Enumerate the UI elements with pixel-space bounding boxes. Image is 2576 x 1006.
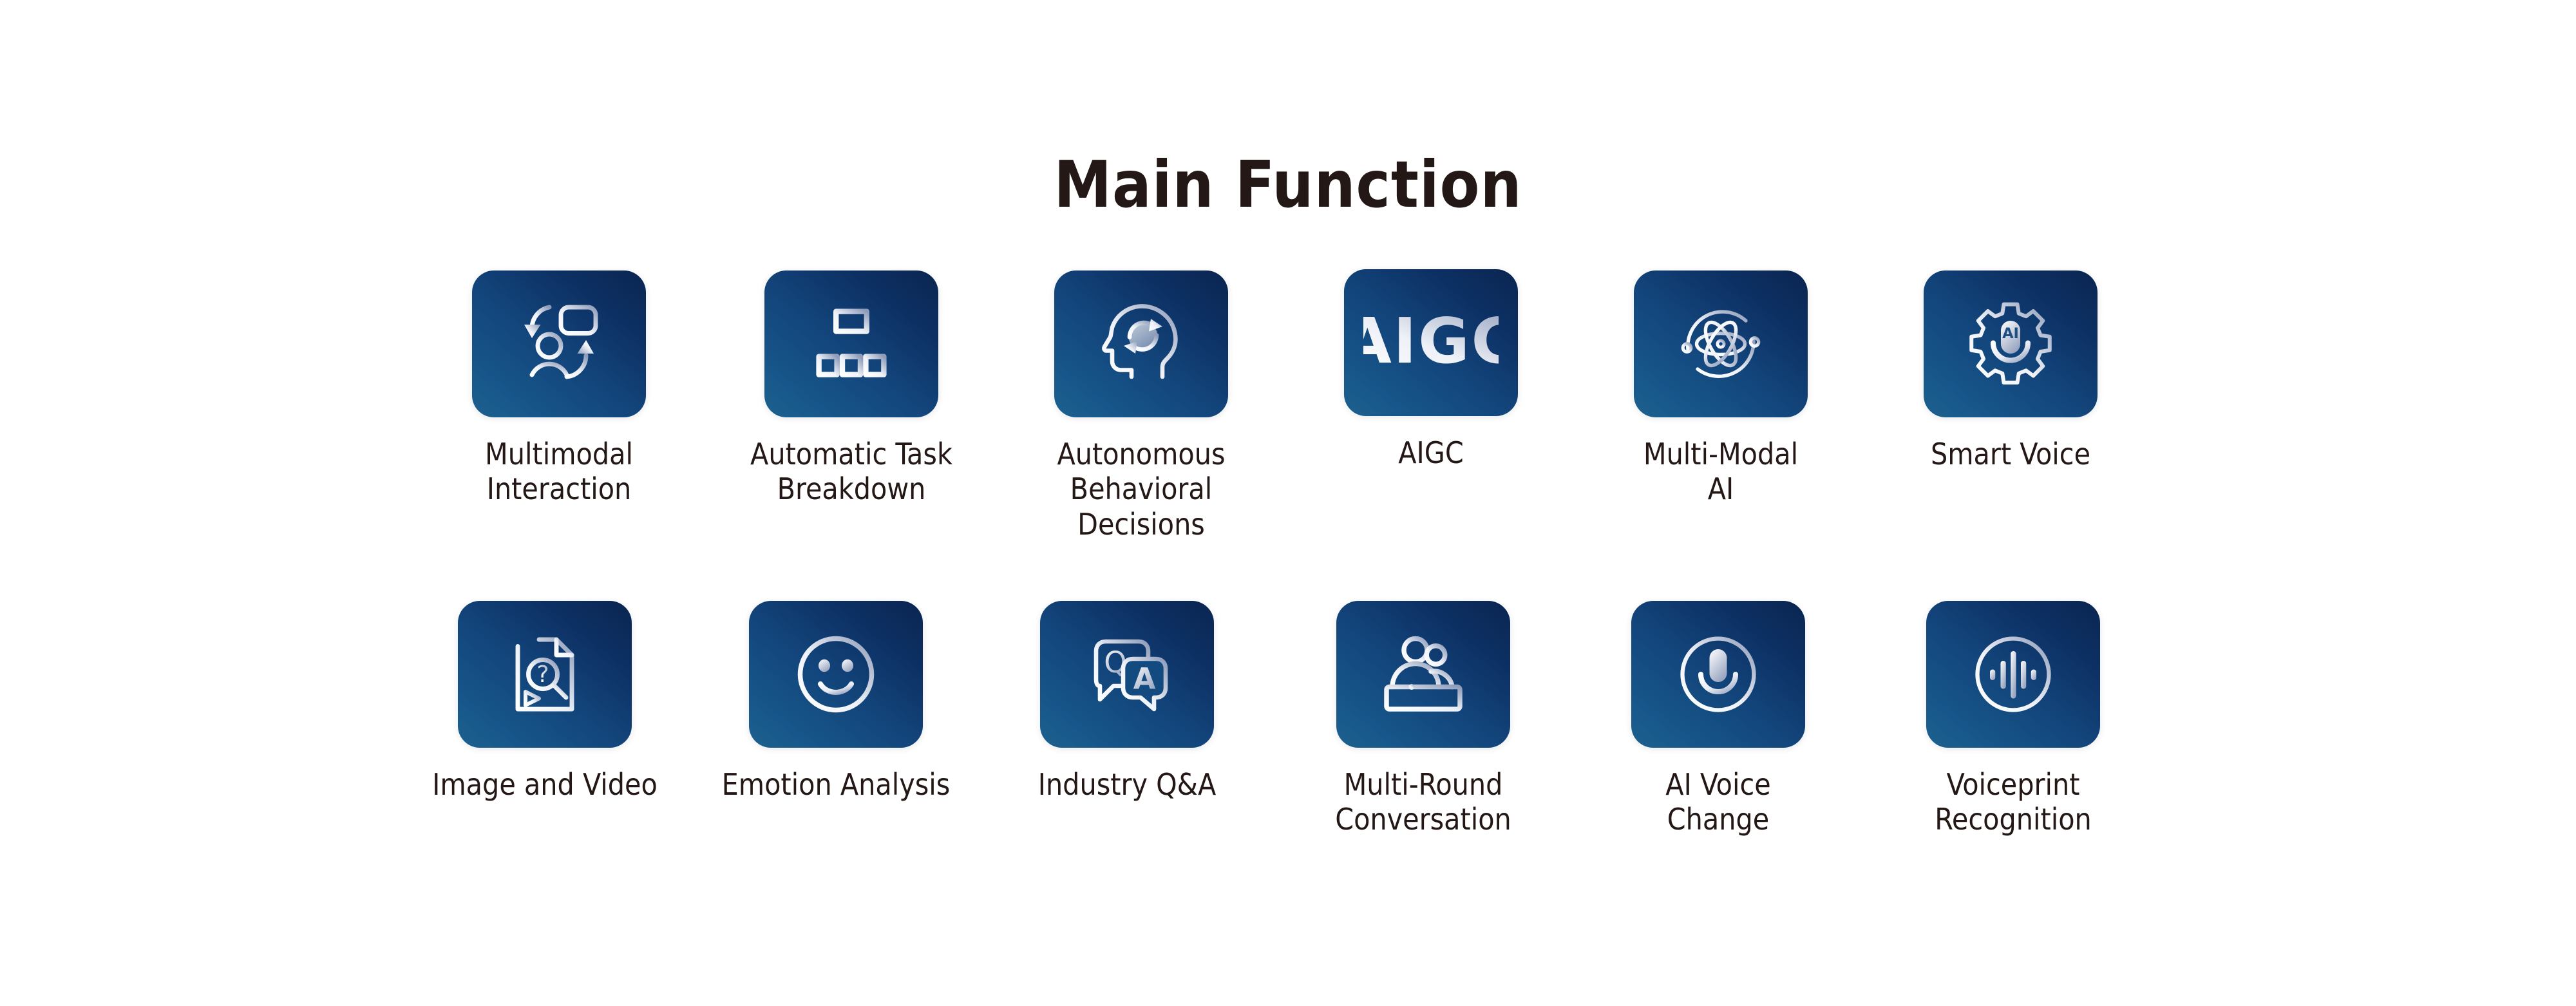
feature-tile[interactable] <box>1054 270 1228 417</box>
feature-tile[interactable] <box>749 601 923 748</box>
feature-label: Smart Voice <box>1931 437 2090 471</box>
feature-tile[interactable] <box>472 270 646 417</box>
feature-item-multi-round-conversation[interactable]: Multi-Round Conversation <box>1278 601 1569 837</box>
feature-label: Industry Q&A <box>1038 767 1217 802</box>
feature-item-automatic-task-breakdown[interactable]: Automatic Task Breakdown <box>706 270 997 507</box>
task-breakdown-tree-icon <box>806 299 896 389</box>
feature-item-aigc[interactable]: AIGC AIGC <box>1285 269 1577 470</box>
feature-label: Multi-Round Conversation <box>1335 767 1511 837</box>
aigc-text-icon: AIGC <box>1363 304 1499 381</box>
feature-label: Multimodal Interaction <box>485 437 633 507</box>
feature-label: Voiceprint Recognition <box>1935 767 2092 837</box>
feature-grid: Multimodal Interaction <box>412 270 2164 837</box>
feature-tile[interactable]: Q A <box>1040 601 1214 748</box>
microphone-circle-icon <box>1670 626 1766 723</box>
feature-tile[interactable]: AI <box>1924 270 2098 417</box>
feature-label: Emotion Analysis <box>722 767 951 802</box>
qa-speech-bubbles-icon: Q A <box>1079 626 1175 723</box>
aigc-tile-text: AIGC <box>1363 305 1499 377</box>
feature-item-autonomous-behavioral-decisions[interactable]: Autonomous Behavioral Decisions <box>996 270 1287 542</box>
document-search-play-icon: ? <box>497 626 593 723</box>
feature-tile[interactable] <box>1631 601 1805 748</box>
feature-item-industry-qa[interactable]: Q A Industry Q&A <box>981 601 1273 802</box>
multimodal-interaction-icon <box>511 296 607 392</box>
feature-label: AIGC <box>1398 435 1463 470</box>
feature-item-multimodal-interaction[interactable]: Multimodal Interaction <box>413 270 705 507</box>
waveform-circle-icon <box>1965 626 2061 723</box>
feature-row-2: ? Image and Video Emotion Analysis <box>399 601 2164 837</box>
feature-label: AI Voice Change <box>1665 767 1770 837</box>
head-refresh-icon <box>1093 296 1189 392</box>
feature-tile[interactable]: AIGC <box>1344 269 1518 416</box>
page-title: Main Function <box>0 153 2576 217</box>
feature-tile[interactable]: ? <box>458 601 632 748</box>
feature-label: Automatic Task Breakdown <box>750 437 952 507</box>
feature-label: Image and Video <box>432 767 658 802</box>
a-bubble-glyph: A <box>1133 661 1156 696</box>
smiley-face-icon <box>788 626 884 723</box>
feature-item-multi-modal-ai[interactable]: Multi-Modal AI <box>1575 270 1866 507</box>
feature-tile[interactable] <box>764 270 938 417</box>
feature-label: Autonomous Behavioral Decisions <box>1057 437 1225 542</box>
atom-orbit-icon <box>1672 296 1769 392</box>
feature-tile[interactable] <box>1926 601 2100 748</box>
people-at-desk-icon <box>1375 626 1472 723</box>
question-mark-glyph: ? <box>536 661 549 688</box>
main-function-section: Main Function <box>0 0 2576 1006</box>
feature-item-ai-voice-change[interactable]: AI Voice Change <box>1573 601 1864 837</box>
gear-microphone-label: AI <box>2002 325 2019 342</box>
feature-item-image-and-video[interactable]: ? Image and Video <box>399 601 690 802</box>
feature-row-1: Multimodal Interaction <box>412 270 2164 542</box>
feature-tile[interactable] <box>1336 601 1510 748</box>
feature-item-smart-voice[interactable]: AI Smart Voice <box>1865 270 2156 471</box>
feature-tile[interactable] <box>1634 270 1808 417</box>
feature-item-voiceprint-recognition[interactable]: Voiceprint Recognition <box>1868 601 2159 837</box>
gear-microphone-ai-icon: AI <box>1962 296 2059 392</box>
feature-label: Multi-Modal AI <box>1643 437 1798 507</box>
feature-item-emotion-analysis[interactable]: Emotion Analysis <box>690 601 981 802</box>
